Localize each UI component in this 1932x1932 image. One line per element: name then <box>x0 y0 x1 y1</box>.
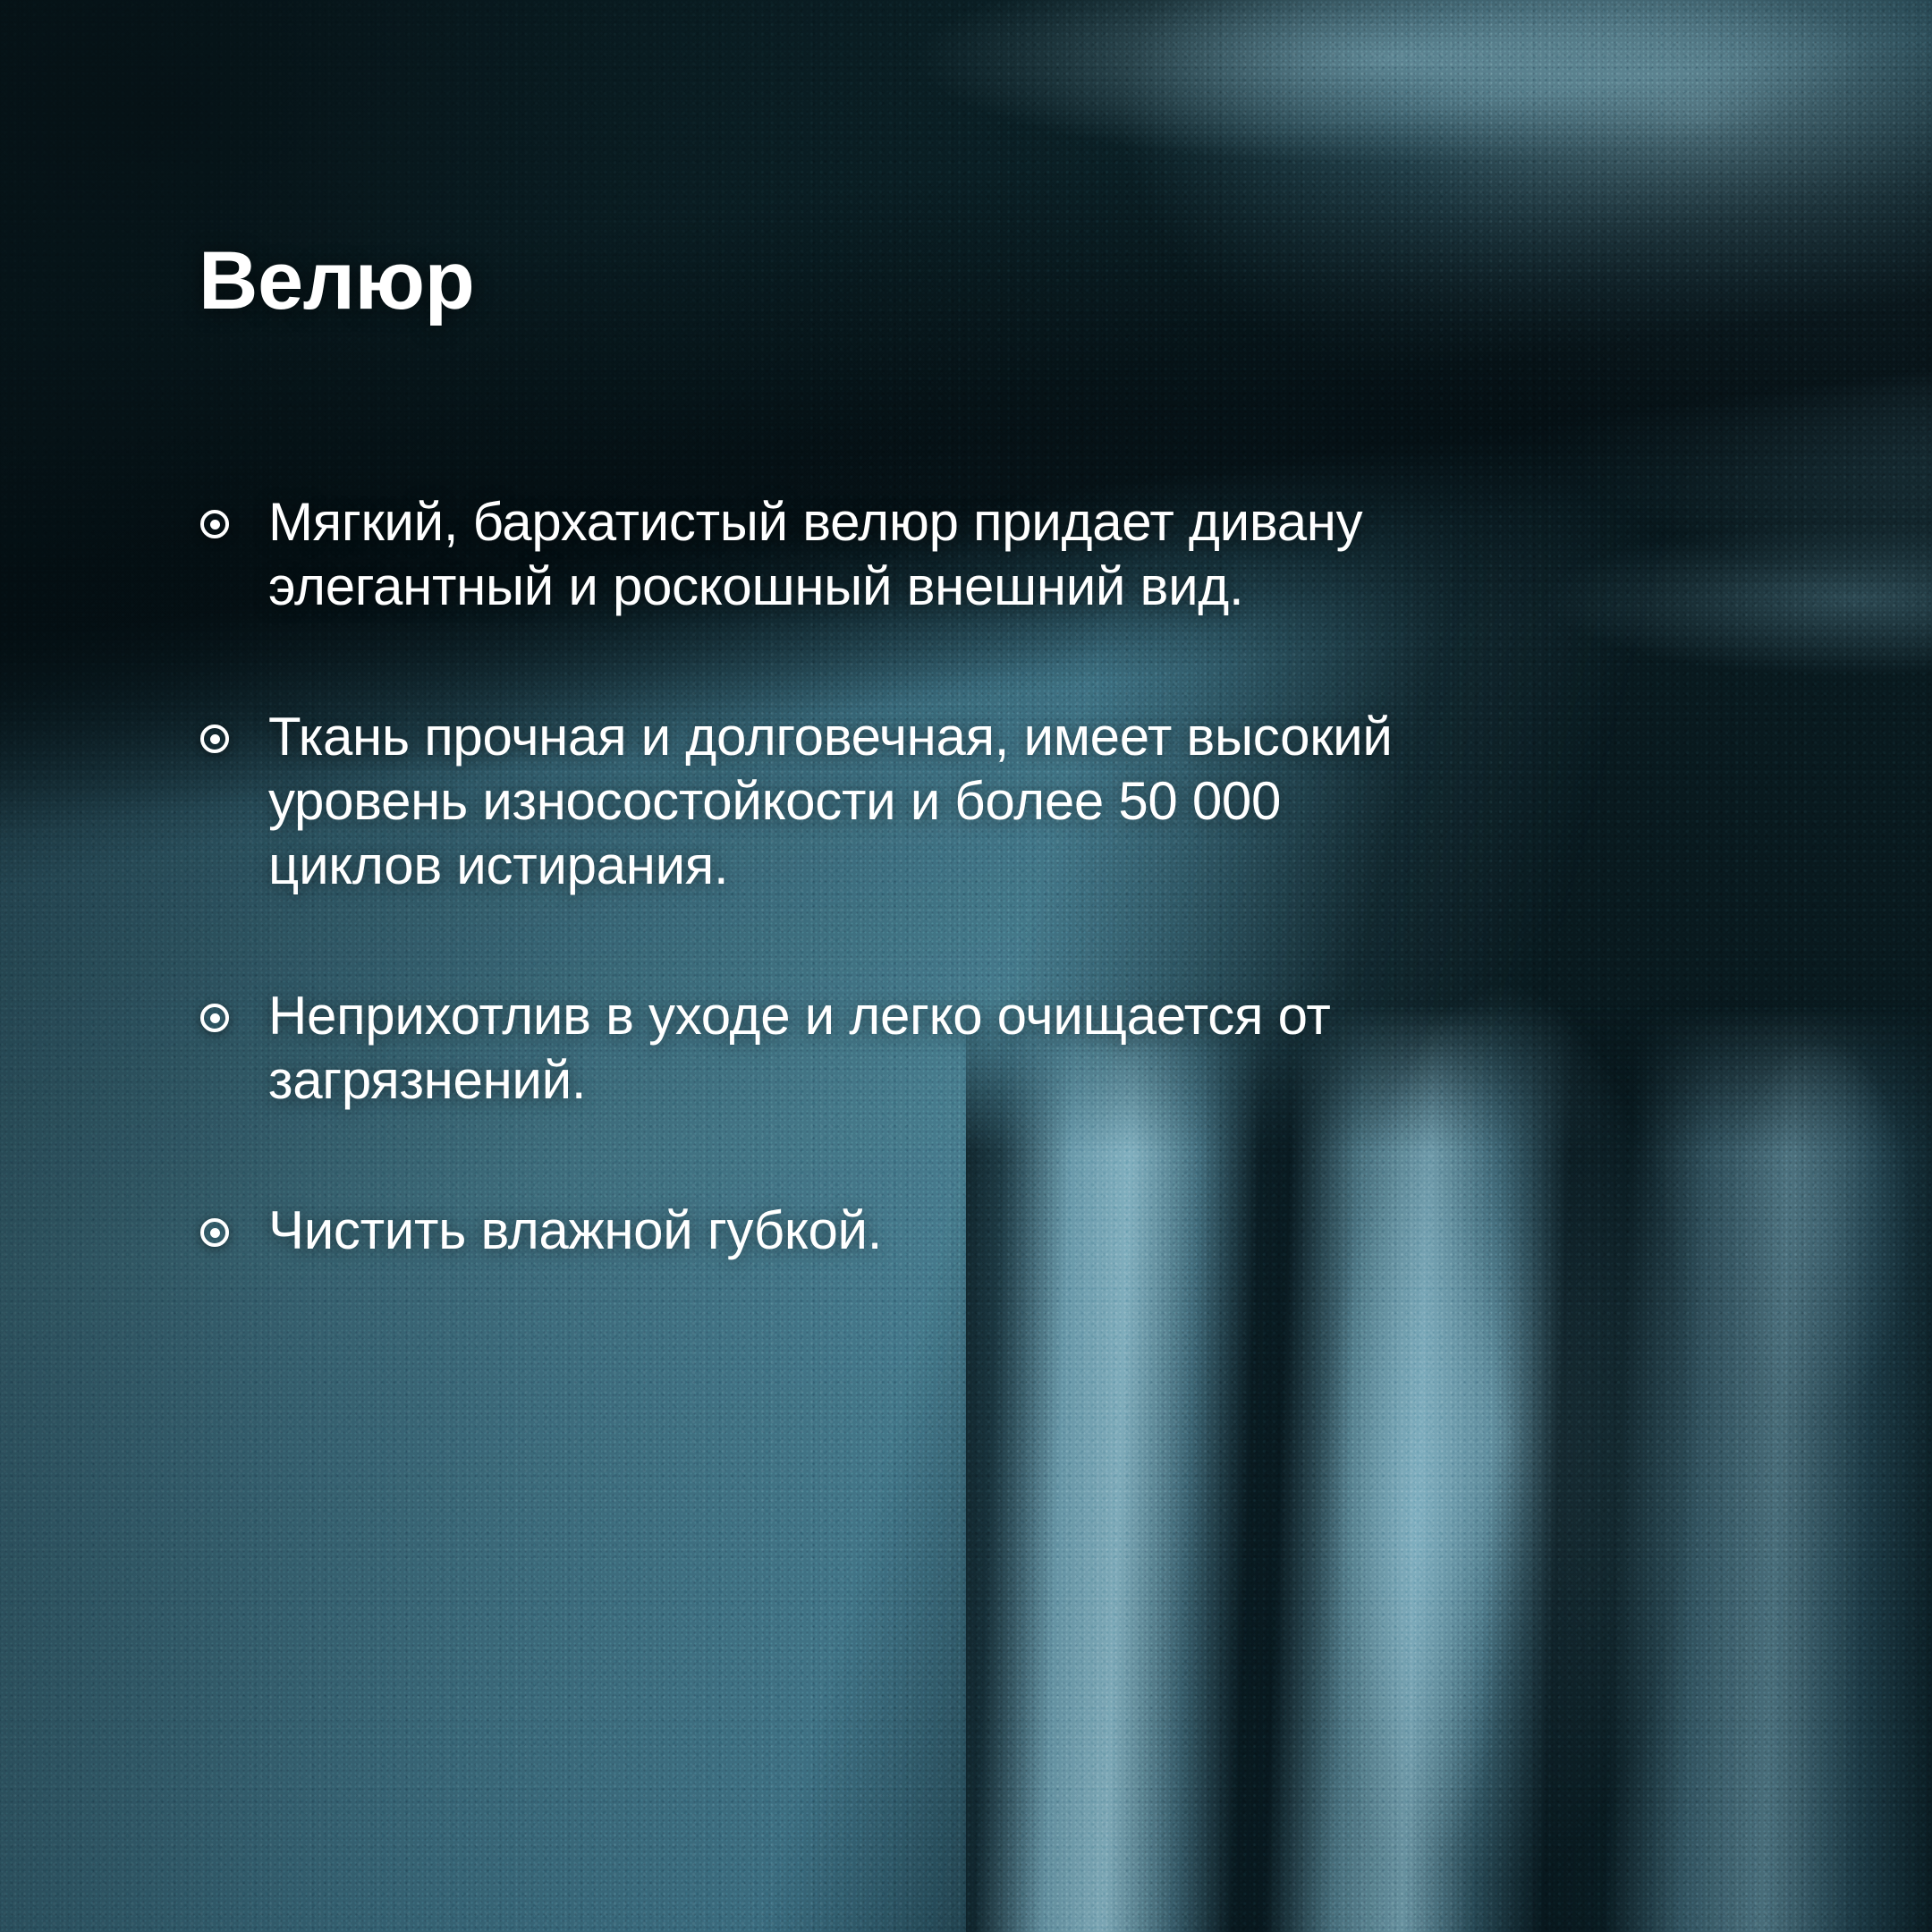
circled-dot-icon <box>200 510 229 538</box>
feature-text: Мягкий, бархатистый велюр придает дивану… <box>268 490 1469 619</box>
card-content: Велюр Мягкий, бархатистый велюр придает … <box>0 0 1932 1932</box>
list-item: Мягкий, бархатистый велюр придает дивану… <box>199 490 1469 619</box>
page-title: Велюр <box>199 240 474 322</box>
feature-text: Ткань прочная и долговечная, имеет высок… <box>268 705 1469 898</box>
feature-list: Мягкий, бархатистый велюр придает дивану… <box>199 490 1469 1263</box>
circled-dot-icon <box>200 1004 229 1032</box>
circled-dot-icon <box>200 1218 229 1247</box>
feature-text: Чистить влажной губкой. <box>268 1199 1469 1263</box>
list-item: Ткань прочная и долговечная, имеет высок… <box>199 705 1469 898</box>
circled-dot-icon <box>200 724 229 753</box>
list-item: Неприхотлив в уходе и легко очищается от… <box>199 984 1469 1113</box>
velour-info-card: Велюр Мягкий, бархатистый велюр придает … <box>0 0 1932 1932</box>
feature-text: Неприхотлив в уходе и легко очищается от… <box>268 984 1469 1113</box>
list-item: Чистить влажной губкой. <box>199 1199 1469 1263</box>
